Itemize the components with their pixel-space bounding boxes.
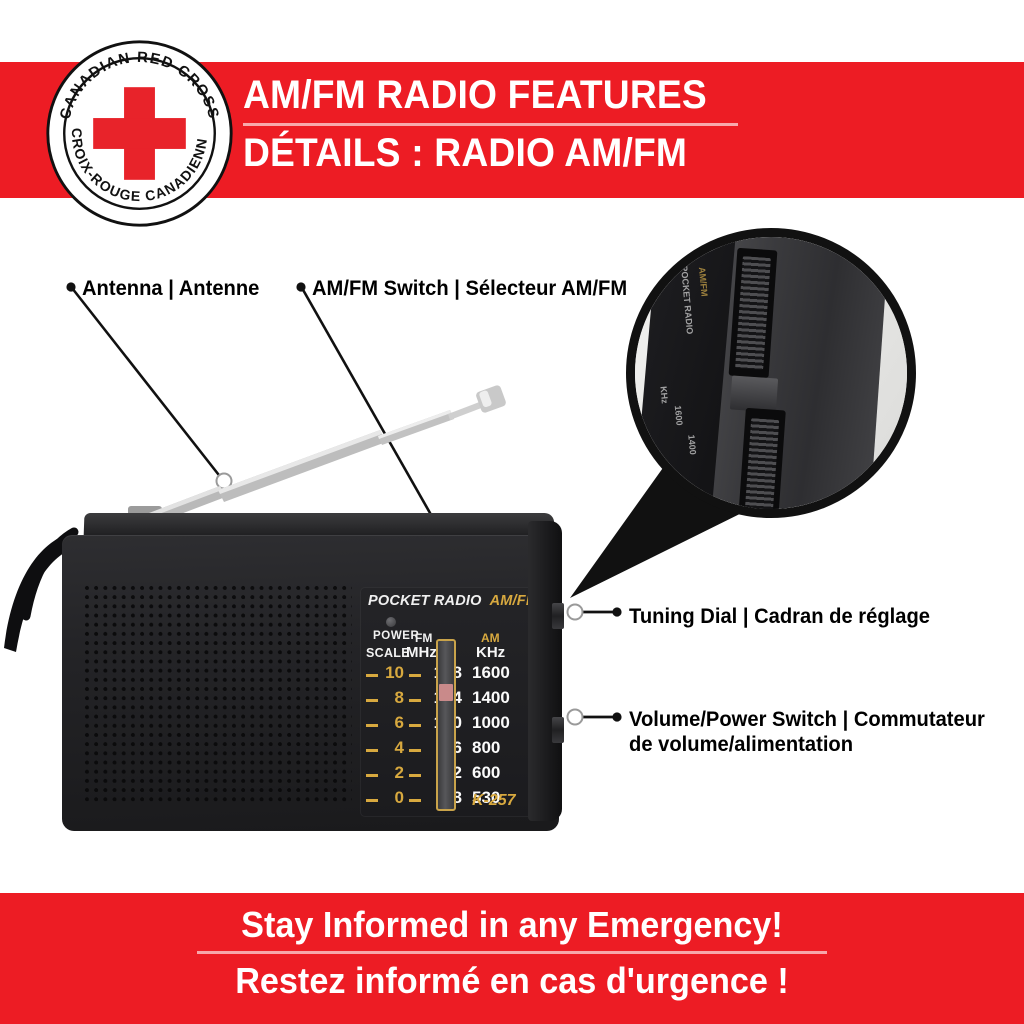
- footer-tagline-en: Stay Informed in any Emergency!: [26, 905, 999, 945]
- magnified-switch-inset: POCKET RADIO AM/FM KHz 1600 1400: [626, 228, 916, 518]
- radio-right-edge: [528, 521, 562, 821]
- dial-head-am: AM: [481, 631, 500, 645]
- tuning-dial-knob[interactable]: [552, 603, 564, 629]
- radio-brand-line: POCKET RADIOAM/FM: [368, 593, 538, 609]
- footer-text-group: Stay Informed in any Emergency! Restez i…: [0, 905, 1024, 1000]
- scale-tick-left: [366, 774, 378, 777]
- callout-label-volume-power: Volume/Power Switch | Commutateur de vol…: [629, 708, 994, 758]
- am-khz-value: 600: [472, 763, 524, 783]
- magnifier-mini-value-1: 1600: [673, 405, 685, 426]
- scale-tick-left: [366, 674, 378, 677]
- dial-panel: POCKET RADIOAM/FM POWER FM AM SCALE MHz …: [360, 587, 534, 817]
- model-number: K-257: [472, 792, 516, 810]
- callout-label-antenna: Antenna | Antenne: [82, 277, 259, 302]
- scale-value: 4: [382, 738, 404, 758]
- am-khz-value: 1000: [472, 713, 524, 733]
- tuning-slot[interactable]: [436, 639, 456, 811]
- scale-value: 10: [382, 663, 404, 683]
- footer-divider: [197, 951, 827, 954]
- magnifier-mini-khz: KHz: [658, 386, 669, 404]
- dial-head-scale: SCALE: [366, 646, 410, 660]
- footer-tagline-fr: Restez informé en cas d'urgence !: [26, 961, 999, 1001]
- red-cross-logo: CANADIAN RED CROSS CROIX-ROUGE CANADIENN…: [43, 37, 236, 230]
- tuning-indicator: [439, 684, 453, 701]
- scale-tick-left: [366, 749, 378, 752]
- scale-tick-left: [366, 724, 378, 727]
- header-divider: [243, 123, 738, 126]
- radio-brand-text: POCKET RADIO: [368, 593, 482, 609]
- dial-head-mhz: MHz: [406, 644, 437, 661]
- dial-head-khz: KHz: [476, 644, 505, 661]
- header-title-fr: DÉTAILS : RADIO AM/FM: [243, 132, 894, 174]
- magnifier-switch-tab: [730, 375, 778, 412]
- scale-tick-left: [366, 799, 378, 802]
- scale-value: 0: [382, 788, 404, 808]
- magnifier-mini-band: AM/FM: [697, 267, 710, 297]
- callout-label-amfm-switch: AM/FM Switch | Sélecteur AM/FM: [312, 277, 627, 302]
- radio-front-face: POCKET RADIOAM/FM POWER FM AM SCALE MHz …: [62, 535, 559, 831]
- scale-value: 8: [382, 688, 404, 708]
- am-khz-value: 1600: [472, 663, 524, 683]
- scale-value: 2: [382, 763, 404, 783]
- scale-value: 6: [382, 713, 404, 733]
- scale-tick-left: [366, 699, 378, 702]
- volume-power-knob[interactable]: [552, 717, 564, 743]
- power-label: POWER: [373, 630, 419, 642]
- power-led-icon: [386, 617, 396, 627]
- radio-device: POCKET RADIOAM/FM POWER FM AM SCALE MHz …: [62, 513, 562, 831]
- header-text-group: AM/FM RADIO FEATURES DÉTAILS : RADIO AM/…: [243, 70, 943, 174]
- speaker-grille: [84, 585, 352, 803]
- am-khz-value: 1400: [472, 688, 524, 708]
- header-title-en: AM/FM RADIO FEATURES: [243, 70, 894, 116]
- am-khz-value: 800: [472, 738, 524, 758]
- magnifier-mini-brand: POCKET RADIO: [679, 265, 695, 335]
- infographic-canvas: AM/FM RADIO FEATURES DÉTAILS : RADIO AM/…: [0, 0, 1024, 1024]
- dial-head-fm: FM: [415, 631, 432, 645]
- magnifier-lens: POCKET RADIO AM/FM KHz 1600 1400: [626, 228, 916, 518]
- magnifier-mini-value-2: 1400: [686, 434, 698, 455]
